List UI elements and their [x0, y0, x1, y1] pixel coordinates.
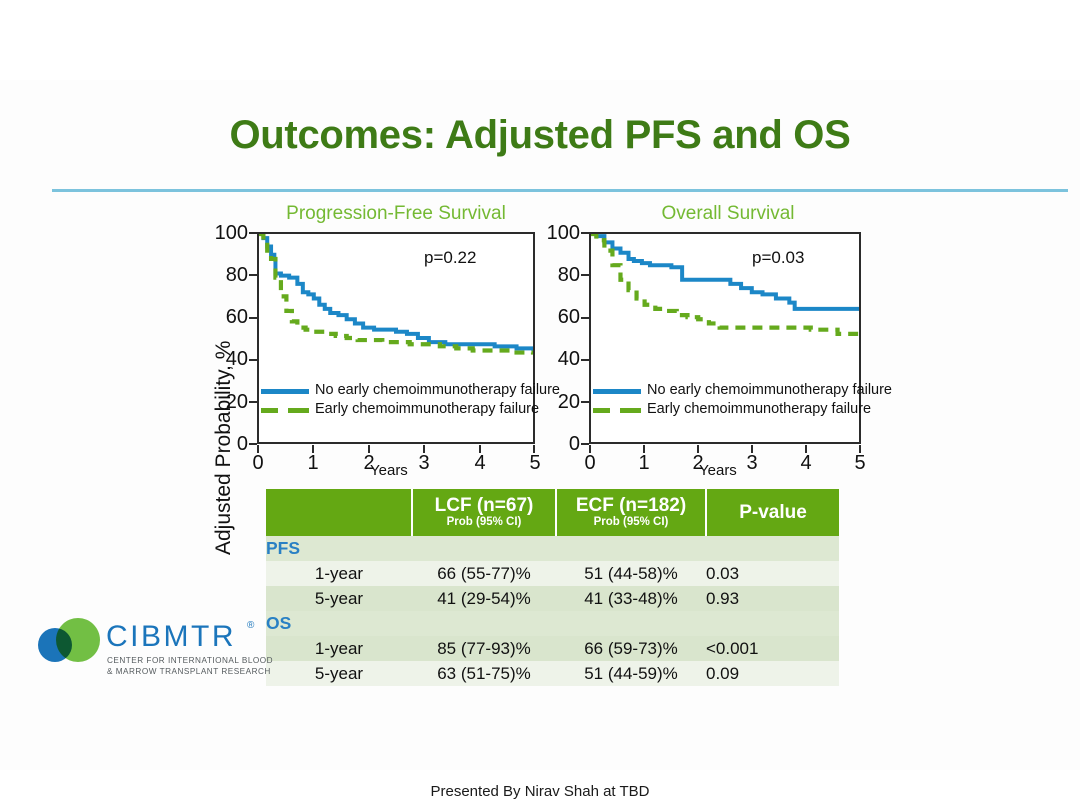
xtick-4-pfs: 4 [465, 452, 495, 475]
row-ecf: 51 (44-59)% [556, 661, 706, 686]
legend-swatch-dashed [261, 408, 309, 413]
row-label: 1-year [266, 561, 412, 586]
table-row: 1-year 85 (77-93)% 66 (59-73)% <0.001 [266, 636, 839, 661]
ytick-0-os: 0 [536, 433, 580, 456]
table-row: 5-year 63 (51-75)% 51 (44-59)% 0.09 [266, 661, 839, 686]
logo-wordmark: CIBMTR [106, 620, 236, 654]
row-lcf: 41 (29-54)% [412, 586, 556, 611]
table-header-row: LCF (n=67) Prob (95% CI) ECF (n=182) Pro… [266, 489, 839, 536]
xtick-4-os: 4 [791, 452, 821, 475]
chart-pvalue-os: p=0.03 [752, 248, 804, 268]
outcomes-table: LCF (n=67) Prob (95% CI) ECF (n=182) Pro… [266, 489, 839, 686]
ytickmark-pfs [249, 317, 257, 319]
xtick-1-pfs: 1 [298, 452, 328, 475]
chart-xlabel-pfs: Years [370, 462, 408, 479]
row-label: 5-year [266, 586, 412, 611]
slide-footer: Presented By Nirav Shah at TBD [0, 783, 1080, 800]
ytickmark-os [581, 232, 589, 234]
xtick-0-os: 0 [575, 452, 605, 475]
legend-label-no-early-failure: No early chemoimmunotherapy failure [315, 382, 560, 398]
table-group-row-pfs: PFS [266, 536, 839, 561]
table-group-row-os: OS [266, 611, 839, 636]
ytickmark-pfs [249, 443, 257, 445]
logo-tagline-line1: CENTER FOR INTERNATIONAL BLOOD [107, 656, 273, 665]
ytick-40-os: 40 [536, 348, 580, 371]
row-label: 5-year [266, 661, 412, 686]
chart-title-os: Overall Survival [588, 203, 868, 225]
ytick-80-os: 80 [536, 264, 580, 287]
chart-overall-survival: Overall Survival p=0.03 No early chemoim… [528, 200, 873, 480]
xtick-3-pfs: 3 [409, 452, 439, 475]
xtick-1-os: 1 [629, 452, 659, 475]
row-pvalue: 0.93 [706, 586, 839, 611]
legend-swatch-solid [593, 389, 641, 394]
slide-root: Outcomes: Adjusted PFS and OS Progressio… [0, 0, 1080, 810]
ytick-40-pfs: 40 [204, 348, 248, 371]
table-row: 1-year 66 (55-77)% 51 (44-58)% 0.03 [266, 561, 839, 586]
table-group-label-os: OS [266, 611, 839, 636]
logo-blue-circle-icon [38, 628, 72, 662]
row-lcf: 85 (77-93)% [412, 636, 556, 661]
table-header-ecf-sub: Prob (95% CI) [557, 516, 705, 529]
ytickmark-os [581, 274, 589, 276]
cibmtr-logo: CIBMTR ® CENTER FOR INTERNATIONAL BLOOD … [34, 614, 254, 684]
legend-swatch-dashed [593, 408, 641, 413]
ytick-20-pfs: 20 [204, 391, 248, 414]
ytick-0-pfs: 0 [204, 433, 248, 456]
table-header: LCF (n=67) Prob (95% CI) ECF (n=182) Pro… [266, 489, 839, 536]
table-body: PFS 1-year 66 (55-77)% 51 (44-58)% 0.03 … [266, 536, 839, 686]
chart-pvalue-pfs: p=0.22 [424, 248, 476, 268]
legend-label-no-early-failure: No early chemoimmunotherapy failure [647, 382, 892, 398]
ytickmark-pfs [249, 359, 257, 361]
ytick-100-os: 100 [536, 222, 580, 245]
legend-label-early-failure: Early chemoimmunotherapy failure [315, 401, 539, 417]
row-pvalue: 0.03 [706, 561, 839, 586]
row-label: 1-year [266, 636, 412, 661]
logo-tagline: CENTER FOR INTERNATIONAL BLOOD & MARROW … [107, 655, 273, 677]
chart-xlabel-os: Years [699, 462, 737, 479]
legend-swatch-solid [261, 389, 309, 394]
xtick-5-os: 5 [845, 452, 875, 475]
ytickmark-os [581, 443, 589, 445]
chart-progression-free-survival: Progression-Free Survival Adjusted Proba… [196, 200, 541, 480]
title-divider [52, 189, 1068, 192]
table-header-lcf-sub: Prob (95% CI) [413, 516, 555, 529]
xtick-3-os: 3 [737, 452, 767, 475]
row-pvalue: 0.09 [706, 661, 839, 686]
row-ecf: 66 (59-73)% [556, 636, 706, 661]
table-header-ecf-main: ECF (n=182) [557, 496, 705, 516]
ytickmark-os [581, 359, 589, 361]
table-header-lcf-main: LCF (n=67) [413, 496, 555, 516]
ytick-20-os: 20 [536, 391, 580, 414]
row-ecf: 41 (33-48)% [556, 586, 706, 611]
legend-label-early-failure: Early chemoimmunotherapy failure [647, 401, 871, 417]
table-header-lcf: LCF (n=67) Prob (95% CI) [412, 489, 556, 536]
ytickmark-os [581, 401, 589, 403]
table-row: 5-year 41 (29-54)% 41 (33-48)% 0.93 [266, 586, 839, 611]
table-header-blank [266, 489, 412, 536]
ytick-80-pfs: 80 [204, 264, 248, 287]
row-pvalue: <0.001 [706, 636, 839, 661]
table-header-pvalue: P-value [706, 489, 839, 536]
ytickmark-pfs [249, 232, 257, 234]
ytick-100-pfs: 100 [204, 222, 248, 245]
ytick-60-pfs: 60 [204, 306, 248, 329]
page-title: Outcomes: Adjusted PFS and OS [0, 113, 1080, 158]
row-ecf: 51 (44-58)% [556, 561, 706, 586]
table-header-pvalue-main: P-value [707, 503, 839, 523]
table-header-ecf: ECF (n=182) Prob (95% CI) [556, 489, 706, 536]
logo-registered-mark: ® [247, 620, 254, 631]
ytick-60-os: 60 [536, 306, 580, 329]
ytickmark-pfs [249, 401, 257, 403]
xtick-0-pfs: 0 [243, 452, 273, 475]
chart-title-pfs: Progression-Free Survival [256, 203, 536, 225]
logo-tagline-line2: & MARROW TRANSPLANT RESEARCH [107, 667, 271, 676]
ytickmark-os [581, 317, 589, 319]
row-lcf: 63 (51-75)% [412, 661, 556, 686]
row-lcf: 66 (55-77)% [412, 561, 556, 586]
ytickmark-pfs [249, 274, 257, 276]
table-group-label-pfs: PFS [266, 536, 839, 561]
